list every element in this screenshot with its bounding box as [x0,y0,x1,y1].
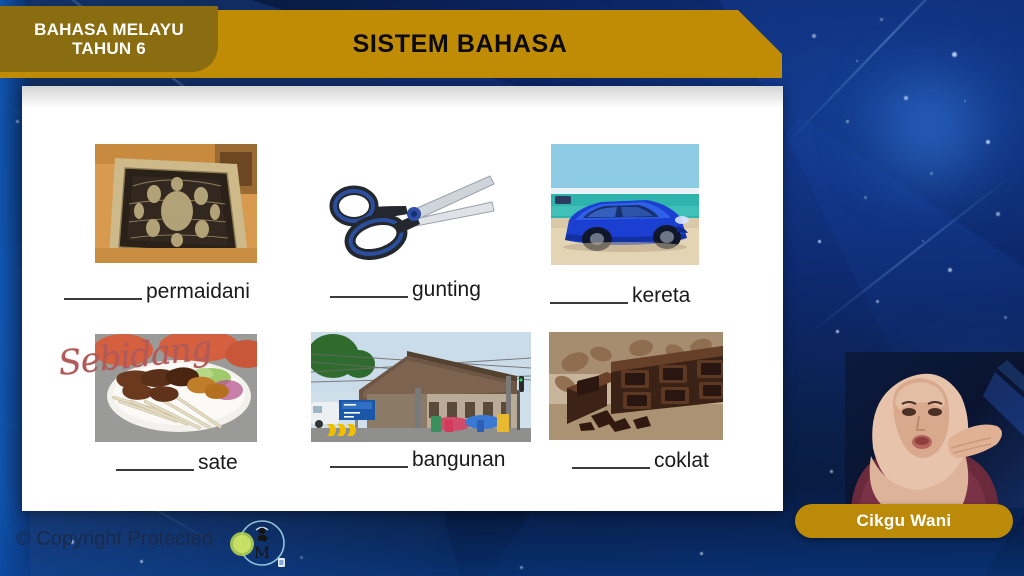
background-sparkle [846,120,849,123]
word-bangunan: bangunan [412,448,505,471]
background-sparkle [818,240,821,243]
word-sate: sate [198,451,238,474]
background-sparkle [996,212,1000,216]
copyright-text: © Copyright Protected [16,528,213,551]
presenter-name-badge: Cikgu Wani [795,504,1013,538]
background-sparkle [700,552,703,555]
answer-blank[interactable] [572,450,650,469]
background-sparkle [864,196,867,199]
caption-bangunan: bangunan [330,448,505,472]
answer-blank[interactable] [330,449,408,468]
background-sparkle [836,330,839,333]
caption-coklat: coklat [572,449,709,473]
caption-sate: sate [116,451,238,475]
word-permaidani: permaidani [146,280,250,303]
background-sparkle [830,470,833,473]
caption-kereta: kereta [550,284,690,308]
subject-tab-line1: BAHASA MELAYU [34,20,184,39]
answer-blank[interactable] [116,452,194,471]
image-scissors [320,156,498,260]
svg-text:M: M [254,543,270,562]
image-buildings [311,332,531,442]
background-sparkle [952,52,957,57]
background-sparkle [948,268,952,272]
subject-tab: BAHASA MELAYU TAHUN 6 [0,6,218,72]
word-gunting: gunting [412,278,481,301]
background-sparkle [904,96,908,100]
presenter-video [845,352,1024,508]
answer-blank[interactable] [550,285,628,304]
image-chocolate [549,332,723,440]
background-sparkle [986,140,990,144]
circular-m-monogram-logo-icon: M [228,516,290,572]
background-sparkle [812,34,816,38]
image-persian-carpet [95,144,257,263]
caption-permaidani: permaidani [64,280,250,304]
image-blue-car [551,144,699,265]
background-sparkle [876,300,879,303]
caption-gunting: gunting [330,278,481,302]
word-kereta: kereta [632,284,690,307]
background-glow [855,55,1005,205]
subject-tab-line2: TAHUN 6 [72,39,146,58]
answer-blank[interactable] [64,281,142,300]
worksheet-grid: permaidani [22,86,783,511]
answer-blank[interactable] [330,279,408,298]
image-satay [95,334,257,442]
slide-stage: SISTEM BAHASA BAHASA MELAYU TAHUN 6 [0,0,1024,576]
page-title: SISTEM BAHASA [180,10,740,78]
background-sparkle [300,556,303,559]
word-coklat: coklat [654,449,709,472]
